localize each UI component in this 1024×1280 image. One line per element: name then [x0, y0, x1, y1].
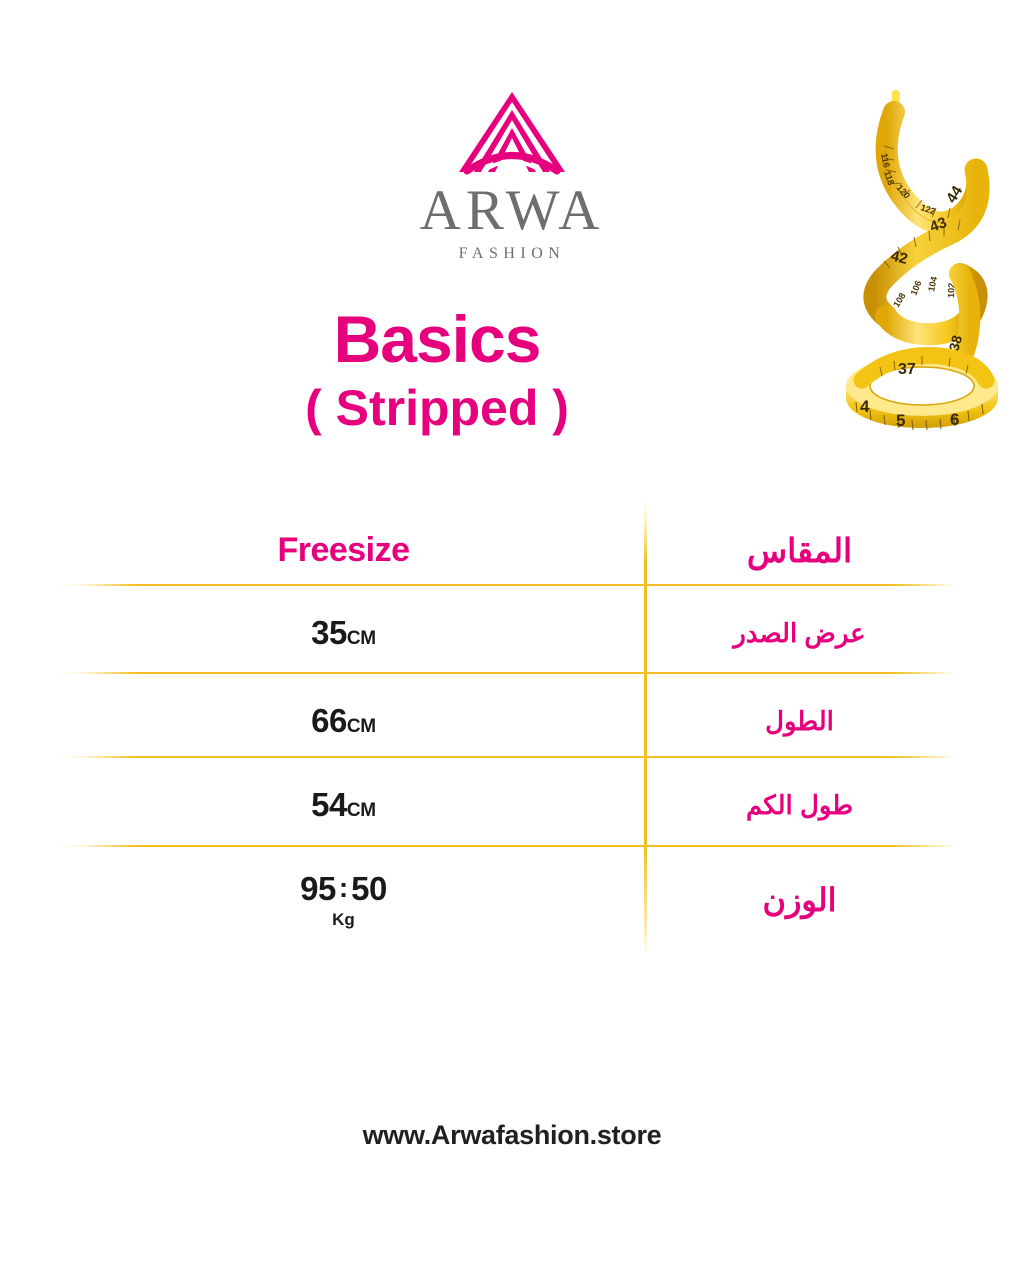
store-url[interactable]: www.Arwafashion.store [363, 1120, 662, 1150]
row-1-label-cell: عرض الصدر [644, 618, 955, 649]
row-3-value-cell: 54CM [55, 786, 644, 824]
arwa-triangle-logo-icon [453, 88, 571, 176]
svg-text:37: 37 [898, 361, 916, 378]
row-4-label: الوزن [762, 882, 836, 918]
table-row: 66CM الطول [55, 680, 955, 762]
row-2-value: 66 [311, 702, 347, 739]
svg-text:108: 108 [891, 291, 907, 309]
row-4-label-cell: الوزن [644, 881, 955, 919]
row-4-value-to: 50 [351, 870, 387, 907]
table-rule-1 [55, 584, 955, 586]
weight-value-stack: 95:50 Kg [55, 870, 632, 931]
footer: www.Arwafashion.store [0, 1120, 1024, 1151]
table-row: 54CM طول الكم [55, 764, 955, 846]
svg-text:6: 6 [950, 410, 959, 429]
row-1-unit: CM [347, 628, 376, 649]
table-rule-4 [55, 845, 955, 847]
svg-text:5: 5 [896, 411, 905, 430]
row-4-value-from: 95 [300, 870, 336, 907]
table-row: 95:50 Kg الوزن [55, 855, 955, 945]
row-2-value-cell: 66CM [55, 702, 644, 740]
row-3-value: 54 [311, 786, 347, 823]
measuring-tape-icon: 116 118 120 122 44 43 42 108 106 104 102 [836, 84, 1022, 450]
table-rule-3 [55, 756, 955, 758]
row-4-value-cell: 95:50 Kg [55, 870, 644, 931]
row-3-label-cell: طول الكم [644, 790, 955, 821]
table-row: 35CM عرض الصدر [55, 592, 955, 674]
row-4-unit: Kg [55, 910, 632, 930]
header-freesize-label: Freesize [277, 531, 409, 569]
header-cell-size: Freesize [55, 531, 644, 570]
svg-text:104: 104 [926, 276, 939, 293]
title-subtitle: ( Stripped ) [0, 382, 874, 435]
row-1-value-cell: 35CM [55, 614, 644, 652]
row-1-value: 35 [311, 614, 347, 651]
header-measure-label: المقاس [747, 532, 852, 569]
row-2-unit: CM [347, 716, 376, 737]
table-rule-2 [55, 672, 955, 674]
size-chart-page: ARWA FASHION Basics ( Stripped ) [0, 0, 1024, 1280]
row-4-separator: : [336, 872, 351, 903]
row-3-label: طول الكم [746, 790, 853, 820]
row-3-unit: CM [347, 800, 376, 821]
svg-text:106: 106 [909, 279, 924, 297]
row-2-label-cell: الطول [644, 706, 955, 737]
row-2-label: الطول [765, 706, 834, 736]
table-header-row: Freesize المقاس [55, 520, 955, 580]
header-cell-measure: المقاس [644, 531, 955, 570]
svg-text:4: 4 [860, 397, 870, 416]
size-spec-table: Freesize المقاس 35CM عرض الصدر 66CM الطو… [55, 500, 955, 955]
row-1-label: عرض الصدر [733, 618, 865, 648]
title-main: Basics [0, 305, 874, 374]
